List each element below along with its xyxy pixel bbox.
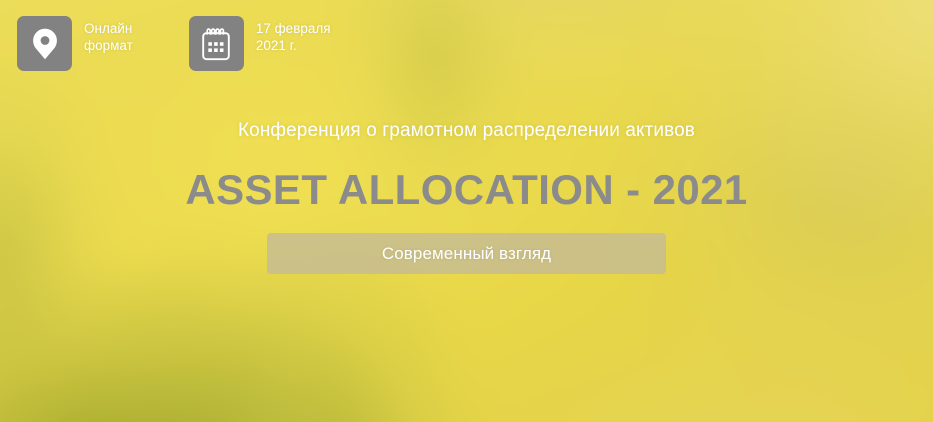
- location-pin-icon: [17, 16, 72, 71]
- hero-copy: Конференция о грамотном распределении ак…: [0, 118, 933, 274]
- modern-view-button[interactable]: Современный взгляд: [267, 233, 666, 274]
- event-info-item-date: 17 февраля 2021 г.: [189, 16, 331, 71]
- calendar-icon: [189, 16, 244, 71]
- cta-container: Современный взгляд: [0, 233, 933, 274]
- hero-subtitle: Конференция о грамотном распределении ак…: [0, 118, 933, 144]
- event-info-strip: Онлайн формат: [17, 16, 331, 71]
- hero-banner: Онлайн формат: [0, 0, 933, 422]
- page-title: ASSET ALLOCATION - 2021: [0, 166, 933, 214]
- event-info-item-format: Онлайн формат: [17, 16, 133, 71]
- event-info-label-date: 17 февраля 2021 г.: [256, 16, 331, 54]
- event-info-label-format: Онлайн формат: [84, 16, 133, 54]
